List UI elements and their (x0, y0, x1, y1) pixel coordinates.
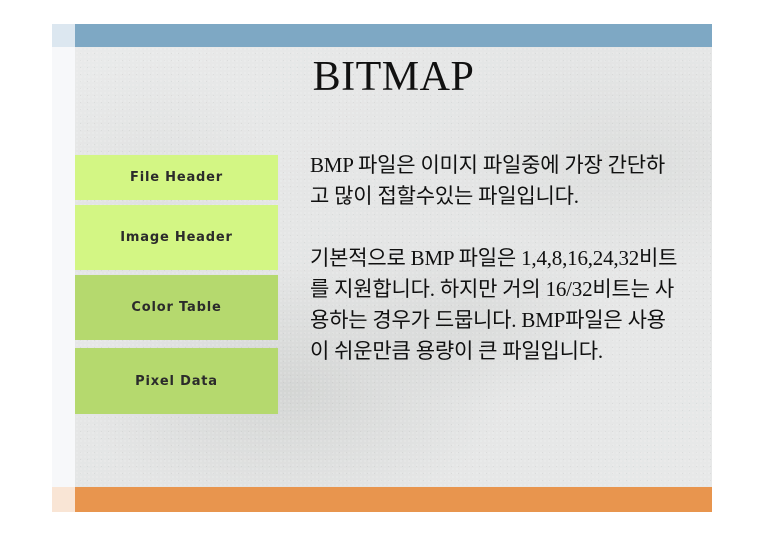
body-paragraph-1: BMP 파일은 이미지 파일중에 가장 간단하고 많이 접할수있는 파일입니다. (310, 150, 682, 212)
diagram-box-label: Image Header (120, 230, 232, 245)
diagram-box-file-header: File Header (75, 155, 278, 200)
header-accent-bar (75, 24, 712, 47)
presentation-slide: BITMAP File Header Image Header Color Ta… (0, 0, 760, 537)
page-title: BITMAP (75, 52, 712, 102)
footer-accent-bar (75, 487, 712, 512)
diagram-box-label: File Header (130, 170, 223, 185)
body-paragraph-2: 기본적으로 BMP 파일은 1,4,8,16,24,32비트를 지원합니다. 하… (310, 243, 682, 367)
header-accent-tab (52, 24, 75, 47)
footer-accent-tab (52, 487, 75, 512)
bmp-structure-diagram: File Header Image Header Color Table Pix… (75, 155, 278, 414)
diagram-box-label: Pixel Data (135, 374, 218, 389)
diagram-box-pixel-data: Pixel Data (75, 348, 278, 414)
slide-body-text: BMP 파일은 이미지 파일중에 가장 간단하고 많이 접할수있는 파일입니다.… (310, 150, 682, 367)
diagram-box-image-header: Image Header (75, 205, 278, 270)
slide-left-rail (52, 24, 75, 512)
diagram-box-label: Color Table (131, 300, 221, 315)
diagram-box-color-table: Color Table (75, 275, 278, 340)
